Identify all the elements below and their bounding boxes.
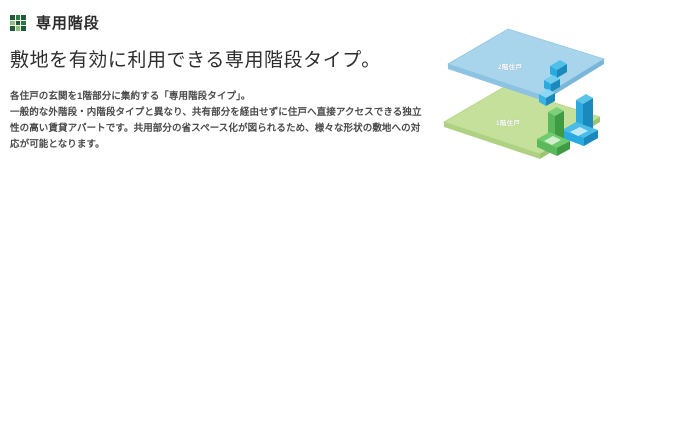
upper-floor-label: 2階住戸 xyxy=(498,61,522,71)
section-title: 専用階段 xyxy=(36,16,100,31)
section-header: 専用階段 xyxy=(10,12,440,34)
body-line: 性の高い賃貸アパートです。共用部分の省スペース化が図られるため、様々な形状の敷地… xyxy=(10,121,440,137)
grid-cell xyxy=(21,21,26,26)
isometric-diagram: 2階住戸 1階住戸 xyxy=(440,18,640,183)
grid-cell xyxy=(10,21,15,26)
page-root: 専用階段 敷地を有効に利用できる専用階段タイプ。 各住戸の玄関を1階部分に集約す… xyxy=(0,0,700,433)
grid-cell xyxy=(16,21,21,26)
page-headline: 敷地を有効に利用できる専用階段タイプ。 xyxy=(10,50,440,73)
body-line: 各住戸の玄関を1階部分に集約する「専用階段タイプ」。 xyxy=(10,89,440,105)
body-line: 応が可能となります。 xyxy=(10,137,440,153)
lower-floor-label: 1階住戸 xyxy=(496,117,520,127)
upper-floor-slab xyxy=(448,29,604,101)
grid-cell xyxy=(10,15,15,20)
body-copy: 各住戸の玄関を1階部分に集約する「専用階段タイプ」。 一般的な外階段・内階段タイ… xyxy=(10,89,440,153)
text-column: 専用階段 敷地を有効に利用できる専用階段タイプ。 各住戸の玄関を1階部分に集約す… xyxy=(10,12,440,153)
grid-cell xyxy=(10,26,15,31)
body-line: 一般的な外階段・内階段タイプと異なり、共有部分を経由せずに住戸へ直接アクセスでき… xyxy=(10,105,440,121)
grid-cell xyxy=(16,26,21,31)
grid-cell xyxy=(21,26,26,31)
grid-cell xyxy=(16,15,21,20)
isometric-diagram-svg xyxy=(440,18,640,183)
grid-cell xyxy=(21,15,26,20)
grid-squares-icon xyxy=(10,15,26,31)
